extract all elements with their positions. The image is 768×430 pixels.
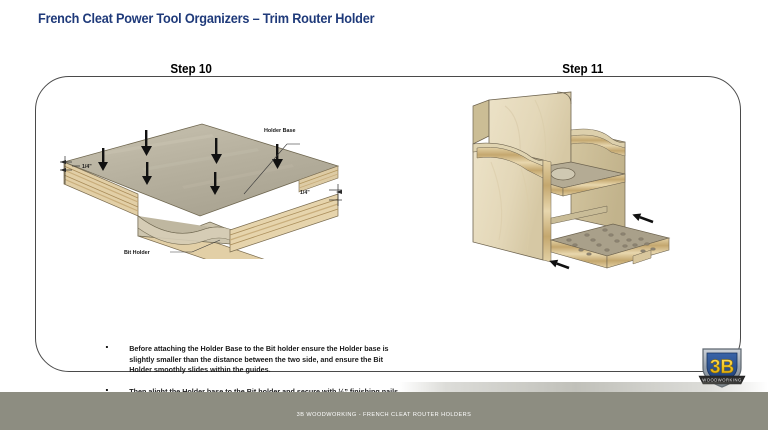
footer-sheen — [0, 382, 768, 392]
holder-base-label: Holder Base — [264, 128, 295, 134]
step-11-diagram — [447, 82, 682, 282]
step-10-header: Step 10 — [170, 61, 212, 76]
step-10-diagram: 1/4" 1/4" Holder Base — [42, 104, 362, 259]
step-10-column: 1/4" 1/4" Holder Base — [42, 86, 382, 366]
step-11-header: Step 11 — [562, 61, 603, 76]
slide-canvas: French Cleat Power Tool Organizers – Tri… — [0, 0, 768, 430]
dimension-right-label: 1/4" — [300, 190, 310, 196]
holder-base-panel — [64, 124, 338, 216]
footer-band — [0, 392, 768, 430]
step-11-column: Finally, slide the bit holder into the g… — [392, 82, 737, 367]
side-wall-left — [473, 143, 551, 262]
dimension-left-label: 1/4" — [82, 164, 92, 170]
slide-arrow-upper — [631, 211, 654, 226]
footer-text: 3B WOODWORKING - FRENCH CLEAT ROUTER HOL… — [0, 412, 768, 418]
bit-holder-label: Bit Holder — [124, 250, 151, 256]
slide-arrow-lower — [548, 257, 570, 272]
page-title: French Cleat Power Tool Organizers – Tri… — [38, 11, 374, 26]
list-item-text: Before attaching the Holder Base to the … — [129, 344, 388, 374]
sliding-bit-holder-tray — [551, 224, 669, 268]
router-collar-hole — [551, 168, 575, 180]
logo-mark: 3B — [710, 357, 734, 378]
list-item: Before attaching the Holder Base to the … — [104, 344, 405, 376]
bullet-dot-icon — [106, 346, 108, 348]
